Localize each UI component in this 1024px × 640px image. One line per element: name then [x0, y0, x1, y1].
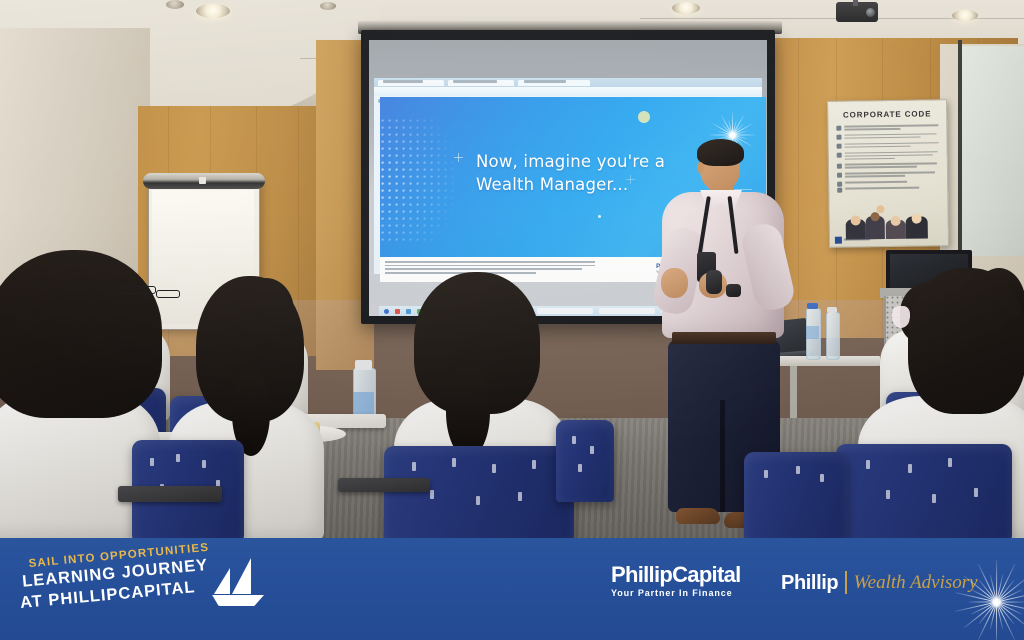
poster-item	[837, 163, 939, 169]
ceiling-speaker	[166, 0, 184, 9]
poster-item	[837, 151, 939, 160]
ceiling-downlight	[672, 2, 700, 14]
screenshot-root: Now, imagine you're a Wealth Manager... …	[0, 0, 1024, 640]
bottle-cap	[355, 360, 372, 370]
chair	[384, 446, 574, 540]
flipchart-clamp	[199, 177, 206, 184]
chair	[556, 420, 614, 502]
bottle-cap	[827, 307, 837, 313]
corporate-code-poster: CORPORATE CODE	[827, 99, 949, 248]
bottle-cap	[807, 303, 818, 309]
face-mask	[892, 306, 910, 328]
taskbar-icon[interactable]	[406, 309, 411, 314]
poster-item	[837, 142, 939, 148]
decor-dot	[638, 111, 650, 123]
phillipcapital-logo: PhillipCapital Your Partner In Finance	[611, 564, 741, 598]
phillip-name: Phillip	[781, 573, 838, 593]
student-hair	[0, 250, 162, 418]
phillipcapital-tagline: Your Partner In Finance	[611, 589, 741, 598]
bottle-label	[806, 326, 819, 339]
eyeglasses	[120, 286, 156, 294]
starburst-icon	[950, 556, 1024, 640]
ceiling-speaker	[320, 2, 336, 10]
student-ponytail	[446, 366, 490, 458]
taskbar-icon[interactable]	[384, 309, 389, 314]
taskbar-icon[interactable]	[395, 309, 400, 314]
presenter-ear	[697, 162, 704, 173]
sailboat-icon	[210, 556, 266, 608]
water-bottle	[826, 312, 840, 360]
slide-title: Now, imagine you're a Wealth Manager...	[476, 151, 726, 197]
poster-item	[837, 172, 939, 178]
presenter-shoe	[676, 508, 720, 524]
browser-address-bar	[374, 87, 762, 96]
halftone-dot-pattern	[380, 119, 476, 241]
poster-item	[836, 124, 938, 130]
poster-item	[837, 186, 939, 189]
window-glass	[960, 46, 1024, 256]
logo-divider	[845, 571, 846, 594]
presentation-clicker	[706, 270, 722, 294]
poster-item	[836, 133, 938, 139]
eyeglasses	[156, 290, 180, 298]
presenter-hair	[697, 139, 744, 166]
projector-mount-arm	[853, 0, 858, 6]
projector-lens	[866, 8, 875, 17]
slide-title-line-1: Now, imagine you're a	[476, 151, 726, 174]
poster-logo	[835, 236, 871, 244]
ceiling-downlight	[196, 4, 230, 18]
browser-tab-strip	[374, 78, 762, 87]
sparkle-icon	[454, 153, 463, 162]
window-mullion	[958, 40, 962, 270]
tablet-arm-desk	[118, 486, 222, 502]
taskbar-window-button[interactable]	[537, 308, 593, 314]
chair	[744, 452, 848, 540]
decor-dot	[598, 215, 601, 218]
bottom-brand-banner: SAIL INTO OPPORTUNITIES LEARNING JOURNEY…	[0, 538, 1024, 640]
poster-title: CORPORATE CODE	[828, 109, 946, 120]
student-hair	[908, 268, 1024, 414]
taskbar-window-button[interactable]	[599, 308, 655, 314]
seminar-photograph: Now, imagine you're a Wealth Manager... …	[0, 0, 1024, 540]
smartwatch	[726, 284, 741, 297]
poster-items	[836, 124, 939, 193]
phillip-wealth-advisory-logo: Phillip Wealth Advisory	[781, 571, 978, 594]
presenter-belt	[672, 332, 776, 344]
presenter-leg-seam	[720, 400, 725, 512]
presenter-hand	[661, 268, 688, 298]
phillipcapital-name: PhillipCapital	[611, 564, 741, 586]
bottle-label	[353, 392, 374, 414]
ceiling-downlight	[952, 10, 978, 21]
chair	[836, 444, 1012, 540]
tablet-arm-desk	[338, 478, 430, 492]
poster-item	[837, 181, 939, 184]
